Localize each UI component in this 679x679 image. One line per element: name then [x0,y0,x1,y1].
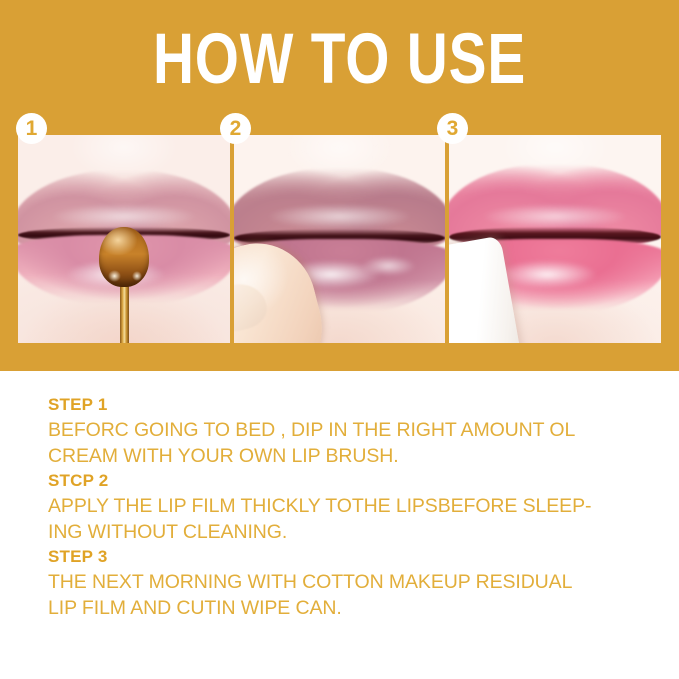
instruction-list: STEP 1 BEFORC GOING TO BED , DIP IN THE … [48,393,648,621]
step-image-strip [18,135,661,343]
upper-lip-gloss-1 [52,204,196,229]
step-number-badge-3: 3 [437,113,468,144]
step-1-heading: STEP 1 [48,393,648,417]
instruction-step-1: STEP 1 BEFORC GOING TO BED , DIP IN THE … [48,393,648,469]
step-3-body: THE NEXT MORNING WITH COTTON MAKEUP RESI… [48,569,648,621]
step-2-heading: STCP 2 [48,469,648,493]
fingernail-icon [234,278,271,337]
lip-brush-head-icon [99,227,149,287]
step-image-1 [18,135,230,343]
upper-lip-gloss-3 [483,204,627,229]
lower-lip-gloss-2b [361,256,416,277]
step-number-badge-1: 1 [16,113,47,144]
how-to-use-infographic: HOW TO USE [0,0,679,679]
instruction-step-3: STEP 3 THE NEXT MORNING WITH COTTON MAKE… [48,545,648,621]
step-image-3 [449,135,661,343]
page-title: HOW TO USE [68,24,611,95]
step-2-body: APPLY THE LIP FILM THICKLY TOTHE LIPSBEF… [48,493,648,545]
step-3-heading: STEP 3 [48,545,648,569]
step-image-2 [234,135,446,343]
instruction-step-2: STCP 2 APPLY THE LIP FILM THICKLY TOTHE … [48,469,648,545]
lower-lip-gloss-3 [496,260,598,289]
upper-lip-gloss-2 [268,204,412,229]
step-1-body: BEFORC GOING TO BED , DIP IN THE RIGHT A… [48,417,648,469]
step-number-badge-2: 2 [220,113,251,144]
